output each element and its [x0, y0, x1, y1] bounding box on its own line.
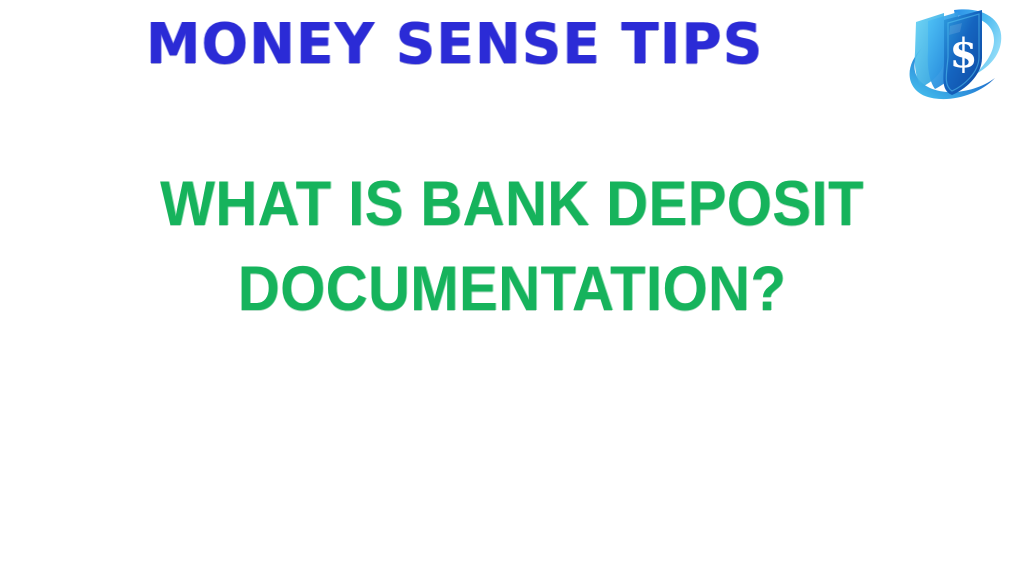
- page-title-line-1: WHAT IS BANK DEPOSIT: [41, 162, 983, 247]
- content-area: [0, 330, 1024, 576]
- shield-dollar-logo: $: [900, 2, 1012, 102]
- page-title: WHAT IS BANK DEPOSIT DOCUMENTATION?: [0, 162, 1024, 332]
- brand-wordmark: MONEY SENSE TIPS: [15, 14, 1008, 76]
- brand-header: MONEY SENSE TIPS: [0, 0, 1024, 108]
- slide-canvas: MONEY SENSE TIPS: [0, 0, 1024, 576]
- page-title-line-2: DOCUMENTATION?: [41, 247, 983, 332]
- svg-text:$: $: [950, 30, 978, 77]
